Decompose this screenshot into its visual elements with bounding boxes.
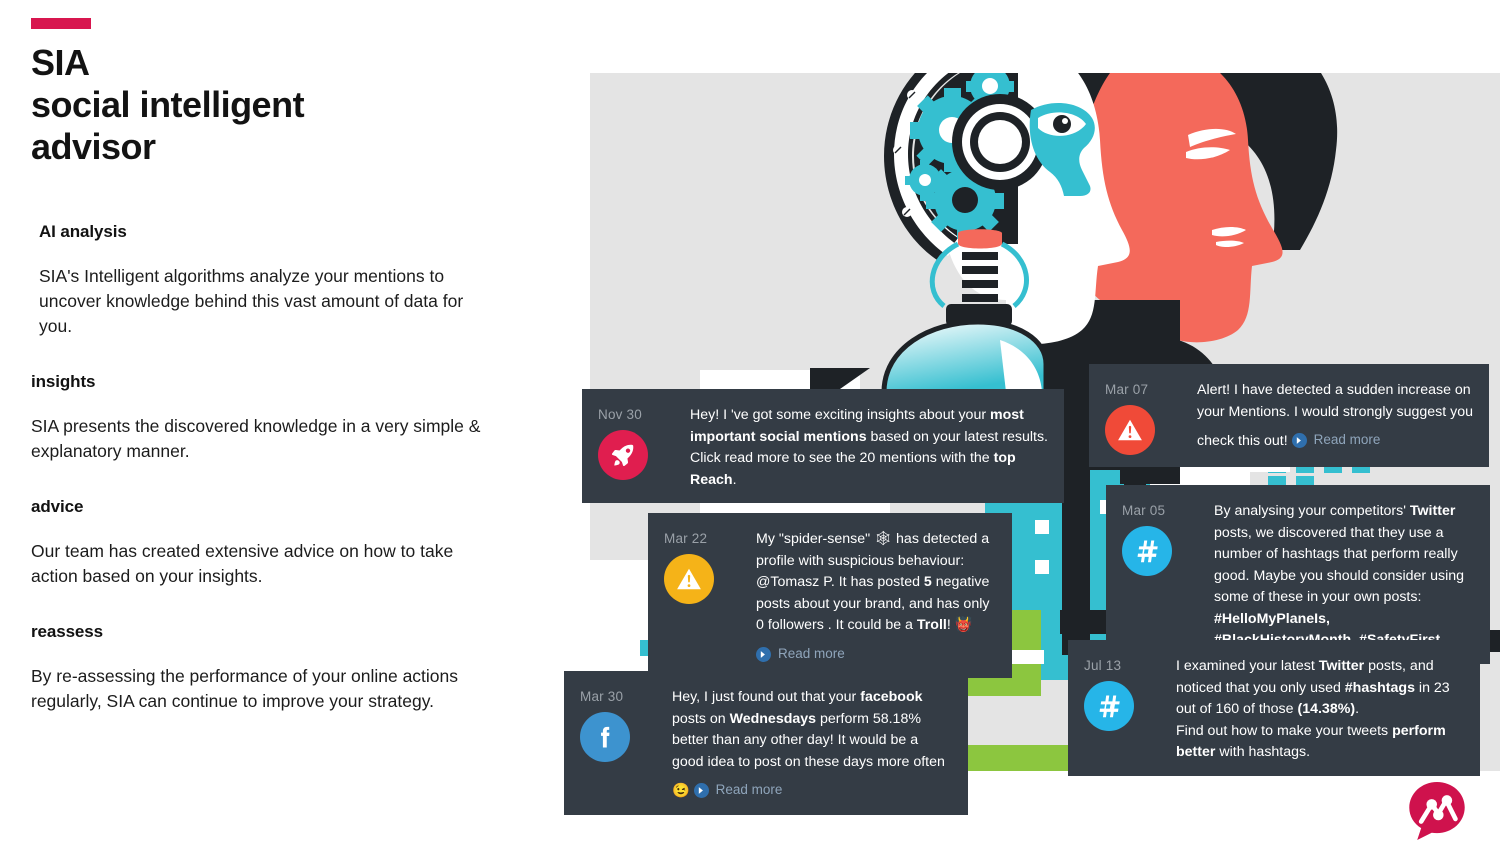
notification-card-nov30[interactable]: Nov 30 Hey! I 've got some exciting insi… <box>582 389 1064 503</box>
arrow-right-circle-icon <box>756 647 771 662</box>
notification-card-mar05[interactable]: Mar 05 By analysing your competitors' Tw… <box>1106 485 1490 664</box>
slide-canvas: SIA social intelligent advisor AI analys… <box>0 0 1500 856</box>
brand-line-1: SIA <box>31 42 461 84</box>
card-meta: Mar 30 <box>580 685 672 803</box>
hashtag-icon <box>1084 681 1134 731</box>
section-ai-analysis: AI analysis SIA's Intelligent algorithms… <box>31 222 501 339</box>
notification-card-mar07[interactable]: Mar 07 Alert! I have detected a sudden i… <box>1089 364 1489 467</box>
alert-triangle-icon <box>1105 405 1155 455</box>
notification-card-mar30[interactable]: Mar 30 Hey, I just found out that your f… <box>564 671 968 815</box>
read-more-label: Read more <box>1314 430 1381 451</box>
section-title: advice <box>31 497 501 517</box>
card-text: Hey! I 've got some exciting insights ab… <box>690 403 1048 491</box>
brand-line-3: advisor <box>31 126 461 168</box>
section-insights: insights SIA presents the discovered kno… <box>31 372 501 464</box>
brand-title: SIA social intelligent advisor <box>31 42 461 167</box>
card-date: Mar 30 <box>580 689 672 704</box>
read-more-label: Read more <box>716 780 783 801</box>
card-date: Mar 07 <box>1105 382 1197 397</box>
card-date: Mar 05 <box>1122 503 1214 518</box>
facebook-icon <box>580 712 630 762</box>
section-body: SIA's Intelligent algorithms analyze you… <box>31 264 501 339</box>
read-more-label: Read more <box>778 644 845 665</box>
section-title: AI analysis <box>31 222 501 242</box>
card-text-wrap: My "spider-sense" 🕸 has detected a profi… <box>756 527 996 666</box>
section-title: reassess <box>31 622 501 642</box>
section-body: Our team has created extensive advice on… <box>31 539 501 589</box>
notification-card-mar22[interactable]: Mar 22 My "spider-sense" 🕸 has detected … <box>648 513 1012 678</box>
arrow-right-circle-icon <box>694 783 709 798</box>
arrow-right-circle-icon <box>1292 433 1307 448</box>
card-text: I examined your latest Twitter posts, an… <box>1176 654 1464 764</box>
card-date: Nov 30 <box>598 407 690 422</box>
card-text: By analysing your competitors' Twitter p… <box>1214 499 1474 652</box>
read-more-link[interactable]: Read more <box>756 644 845 665</box>
hashtag-icon <box>1122 526 1172 576</box>
card-meta: Mar 05 <box>1122 499 1214 652</box>
section-body: SIA presents the discovered knowledge in… <box>31 414 501 464</box>
card-text-wrap: Hey, I just found out that your facebook… <box>672 685 952 803</box>
card-text: My "spider-sense" 🕸 has detected a profi… <box>756 531 989 633</box>
brand-accent-bar <box>31 18 91 29</box>
rocket-icon <box>598 430 648 480</box>
notification-card-jul13[interactable]: Jul 13 I examined your latest Twitter po… <box>1068 640 1480 776</box>
card-date: Jul 13 <box>1084 658 1176 673</box>
card-date: Mar 22 <box>664 531 756 546</box>
warning-triangle-icon <box>664 554 714 604</box>
section-advice: advice Our team has created extensive ad… <box>31 497 501 589</box>
feature-sections: AI analysis SIA's Intelligent algorithms… <box>31 222 501 747</box>
card-meta: Jul 13 <box>1084 654 1176 764</box>
card-text-wrap: Alert! I have detected a sudden increase… <box>1197 378 1473 455</box>
section-title: insights <box>31 372 501 392</box>
mentionlytics-speech-bubble-logo <box>1404 778 1470 844</box>
read-more-link[interactable]: Read more <box>694 780 783 801</box>
card-meta: Mar 22 <box>664 527 756 666</box>
card-meta: Mar 07 <box>1105 378 1197 455</box>
read-more-link[interactable]: Read more <box>1292 430 1381 451</box>
section-reassess: reassess By re-assessing the performance… <box>31 622 501 714</box>
brand-line-2: social intelligent <box>31 84 461 126</box>
section-body: By re-assessing the performance of your … <box>31 664 501 714</box>
card-meta: Nov 30 <box>598 403 690 491</box>
